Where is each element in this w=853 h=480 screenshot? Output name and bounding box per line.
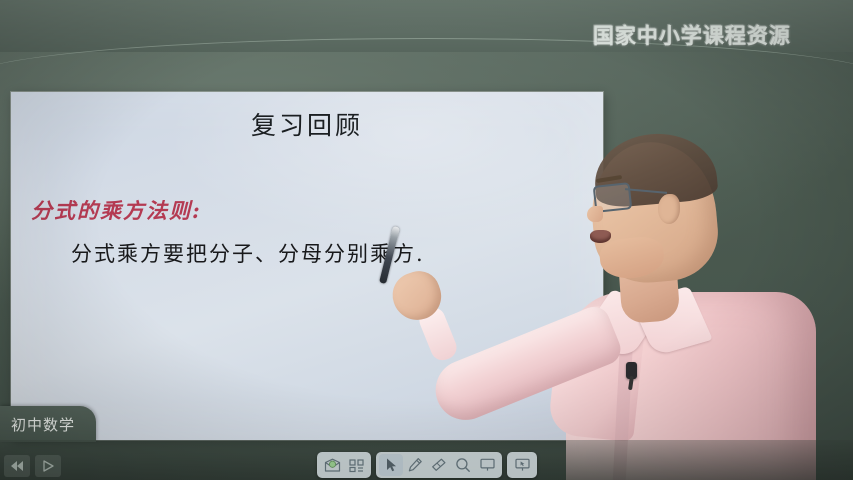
grid-menu-button[interactable] <box>344 454 368 476</box>
play-button[interactable] <box>35 455 61 477</box>
toolbar-group-resources <box>317 452 371 478</box>
prev-button[interactable] <box>4 455 30 477</box>
toolbar-group-tools <box>376 452 502 478</box>
toolbar-group-display <box>507 452 537 478</box>
grid-menu-icon <box>348 458 365 473</box>
subject-badge-label: 初中数学 <box>11 414 75 435</box>
magnifier-tool-button[interactable] <box>451 454 475 476</box>
teacher-ear <box>658 194 680 224</box>
pen-icon <box>407 457 423 473</box>
screen-tool-button[interactable] <box>475 454 499 476</box>
cursor-icon <box>384 457 399 473</box>
envelope-icon <box>324 458 341 473</box>
annotation-toolbar <box>317 452 537 478</box>
pen-tool-button[interactable] <box>403 454 427 476</box>
eraser-icon <box>431 457 447 473</box>
subject-badge: 初中数学 <box>0 406 96 442</box>
teacher-figure <box>508 120 853 480</box>
cursor-tool-button[interactable] <box>379 454 403 476</box>
teacher-nose <box>587 206 603 222</box>
eraser-tool-button[interactable] <box>427 454 451 476</box>
video-player-stage: 国家中小学课程资源 复习回顾 分式的乘方法则: 分式乘方要把分子、分母分别乘方.… <box>0 0 853 480</box>
screen-icon <box>479 457 496 473</box>
screen-pointer-icon <box>514 457 531 473</box>
channel-watermark: 国家中小学课程资源 <box>593 20 791 50</box>
slide-rule-body: 分式乘方要把分子、分母分别乘方. <box>71 238 425 268</box>
playback-controls <box>4 455 61 477</box>
magnifier-icon <box>455 457 471 473</box>
envelope-button[interactable] <box>320 454 344 476</box>
screen-pointer-button[interactable] <box>510 454 534 476</box>
slide-rule-heading: 分式的乘方法则: <box>31 195 202 225</box>
